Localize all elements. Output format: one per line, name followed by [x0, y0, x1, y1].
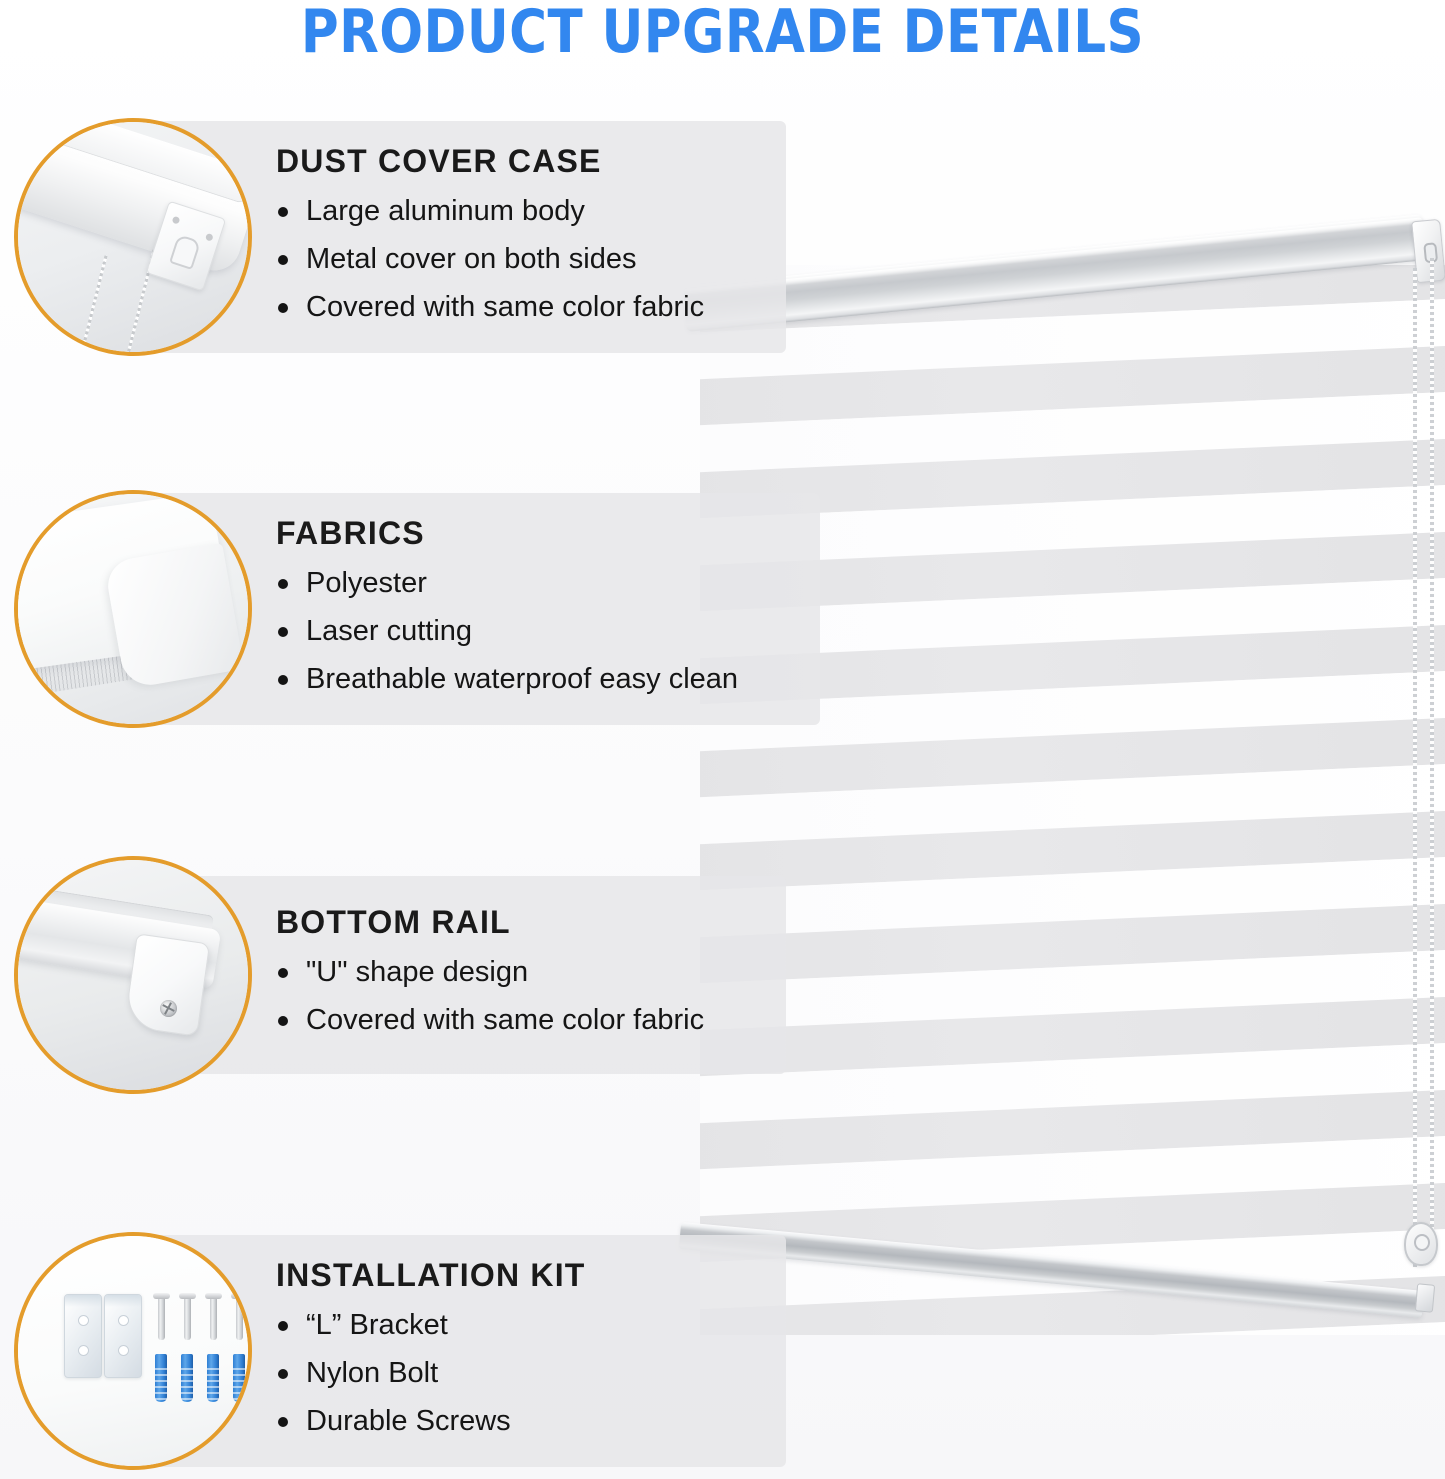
- bracket-lip: [65, 1295, 101, 1307]
- screw-icon: [236, 1298, 243, 1340]
- bullet-dot-icon: [278, 1016, 288, 1026]
- fabric-fold: [104, 543, 244, 690]
- feature-title: DUST COVER CASE: [276, 141, 760, 181]
- bottom-rail-photo: [14, 856, 252, 1094]
- bracket-hole: [118, 1345, 129, 1356]
- screw-icon: [184, 1298, 191, 1340]
- feature-dust-cover-case: DUST COVER CASE Large aluminum body Meta…: [14, 118, 786, 356]
- list-item: “L” Bracket: [276, 1301, 760, 1349]
- list-item: Laser cutting: [276, 607, 794, 655]
- bullet-dot-icon: [278, 255, 288, 265]
- bullet-dot-icon: [278, 1417, 288, 1427]
- headrail-dust-cover-photo: [14, 118, 252, 356]
- bullet-dot-icon: [278, 207, 288, 217]
- installation-kit-illustration: [18, 1236, 248, 1466]
- bracket-hole: [78, 1345, 89, 1356]
- feature-bottom-rail: BOTTOM RAIL "U" shape design Covered wit…: [14, 856, 786, 1094]
- list-item: "U" shape design: [276, 948, 760, 996]
- feature-installation-kit: INSTALLATION KIT “L” Bracket Nylon Bolt …: [14, 1232, 786, 1470]
- rail-end-cap: [124, 933, 210, 1036]
- list-item: Covered with same color fabric: [276, 283, 760, 331]
- bead-chain-right-strand: [1430, 258, 1434, 1248]
- list-item-label: Polyester: [306, 567, 427, 599]
- feature-bullet-list: Large aluminum body Metal cover on both …: [276, 187, 760, 331]
- bullet-dot-icon: [278, 1321, 288, 1331]
- bead-chain-left-strand: [1413, 268, 1417, 1268]
- product-image-zebra-blind: [655, 195, 1445, 1325]
- list-item: Large aluminum body: [276, 187, 760, 235]
- headrail-bar: [684, 214, 1425, 332]
- screw-hole-icon: [172, 216, 181, 225]
- bottom-rail-illustration: [18, 860, 248, 1090]
- screw-icon: [210, 1298, 217, 1340]
- bracket-lip: [105, 1295, 141, 1307]
- bullet-dot-icon: [278, 675, 288, 685]
- list-item: Durable Screws: [276, 1397, 760, 1445]
- product-infographic: PRODUCT UPGRADE DETAILS: [0, 0, 1445, 1479]
- list-item-label: "U" shape design: [306, 956, 528, 988]
- list-item-label: Nylon Bolt: [306, 1357, 438, 1389]
- list-item: Metal cover on both sides: [276, 235, 760, 283]
- screw-hole-icon: [205, 233, 214, 242]
- feature-bullet-list: “L” Bracket Nylon Bolt Durable Screws: [276, 1301, 760, 1445]
- list-item-label: “L” Bracket: [306, 1309, 448, 1341]
- chain-strand-icon: [76, 255, 108, 356]
- feature-fabrics: FABRICS Polyester Laser cutting Breathab…: [14, 490, 820, 728]
- fabric-swatch-photo: [14, 490, 252, 728]
- bracket-hole: [118, 1315, 129, 1326]
- dust-cover-illustration: [18, 122, 248, 352]
- blind-fabric: [700, 265, 1445, 1335]
- feature-bullet-list: "U" shape design Covered with same color…: [276, 948, 760, 1044]
- bullet-dot-icon: [278, 968, 288, 978]
- list-item-label: Laser cutting: [306, 615, 472, 647]
- screw-icon: [158, 1298, 165, 1340]
- bullet-dot-icon: [278, 303, 288, 313]
- list-item-label: Large aluminum body: [306, 195, 585, 227]
- list-item: Nylon Bolt: [276, 1349, 760, 1397]
- screw-icon: [160, 1000, 177, 1017]
- bottom-rail-end-cap: [1415, 1283, 1435, 1312]
- feature-title: FABRICS: [276, 513, 794, 553]
- list-item-label: Covered with same color fabric: [306, 1004, 704, 1036]
- l-bracket-icon: [104, 1294, 142, 1378]
- fabric-illustration: [18, 494, 248, 724]
- bullet-dot-icon: [278, 579, 288, 589]
- list-item: Polyester: [276, 559, 794, 607]
- bullet-dot-icon: [278, 627, 288, 637]
- bottom-rail-assembly: [680, 1200, 1440, 1330]
- chain-slot-icon: [169, 234, 201, 270]
- list-item-label: Durable Screws: [306, 1405, 511, 1437]
- bracket-hole: [78, 1315, 89, 1326]
- nylon-bolt-icon: [207, 1354, 219, 1402]
- bottom-rail-bar: [679, 1222, 1424, 1318]
- feature-title: INSTALLATION KIT: [276, 1255, 760, 1295]
- nylon-bolt-icon: [155, 1354, 167, 1402]
- list-item: Covered with same color fabric: [276, 996, 760, 1044]
- list-item-label: Metal cover on both sides: [306, 243, 636, 275]
- list-item-label: Breathable waterproof easy clean: [306, 663, 738, 695]
- l-bracket-icon: [64, 1294, 102, 1378]
- bullet-dot-icon: [278, 1369, 288, 1379]
- nylon-bolt-icon: [181, 1354, 193, 1402]
- list-item-label: Covered with same color fabric: [306, 291, 704, 323]
- feature-bullet-list: Polyester Laser cutting Breathable water…: [276, 559, 794, 703]
- page-title: PRODUCT UPGRADE DETAILS: [101, 0, 1344, 66]
- headrail-assembly: [685, 208, 1440, 358]
- feature-title: BOTTOM RAIL: [276, 902, 760, 942]
- installation-kit-photo: [14, 1232, 252, 1470]
- nylon-bolt-icon: [233, 1354, 245, 1402]
- list-item: Breathable waterproof easy clean: [276, 655, 794, 703]
